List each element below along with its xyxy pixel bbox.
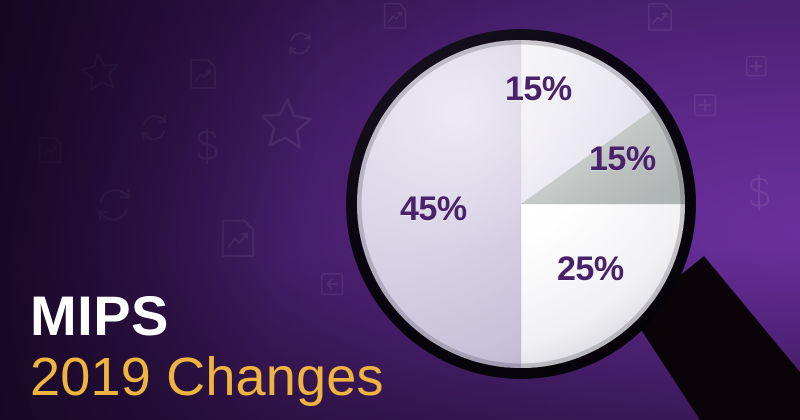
headline: MIPS 2019 Changes — [30, 288, 384, 404]
pie-label-15-top: 15% — [505, 70, 572, 109]
pie-label-45: 45% — [400, 190, 467, 229]
headline-line-1: MIPS — [30, 288, 384, 344]
pie-label-15-right: 15% — [589, 140, 656, 179]
headline-line-2: 2019 Changes — [30, 350, 384, 404]
pie-label-25: 25% — [557, 250, 624, 289]
banner-canvas: 15% 15% 25% 45% MIPS 2019 Changes — [0, 0, 800, 420]
